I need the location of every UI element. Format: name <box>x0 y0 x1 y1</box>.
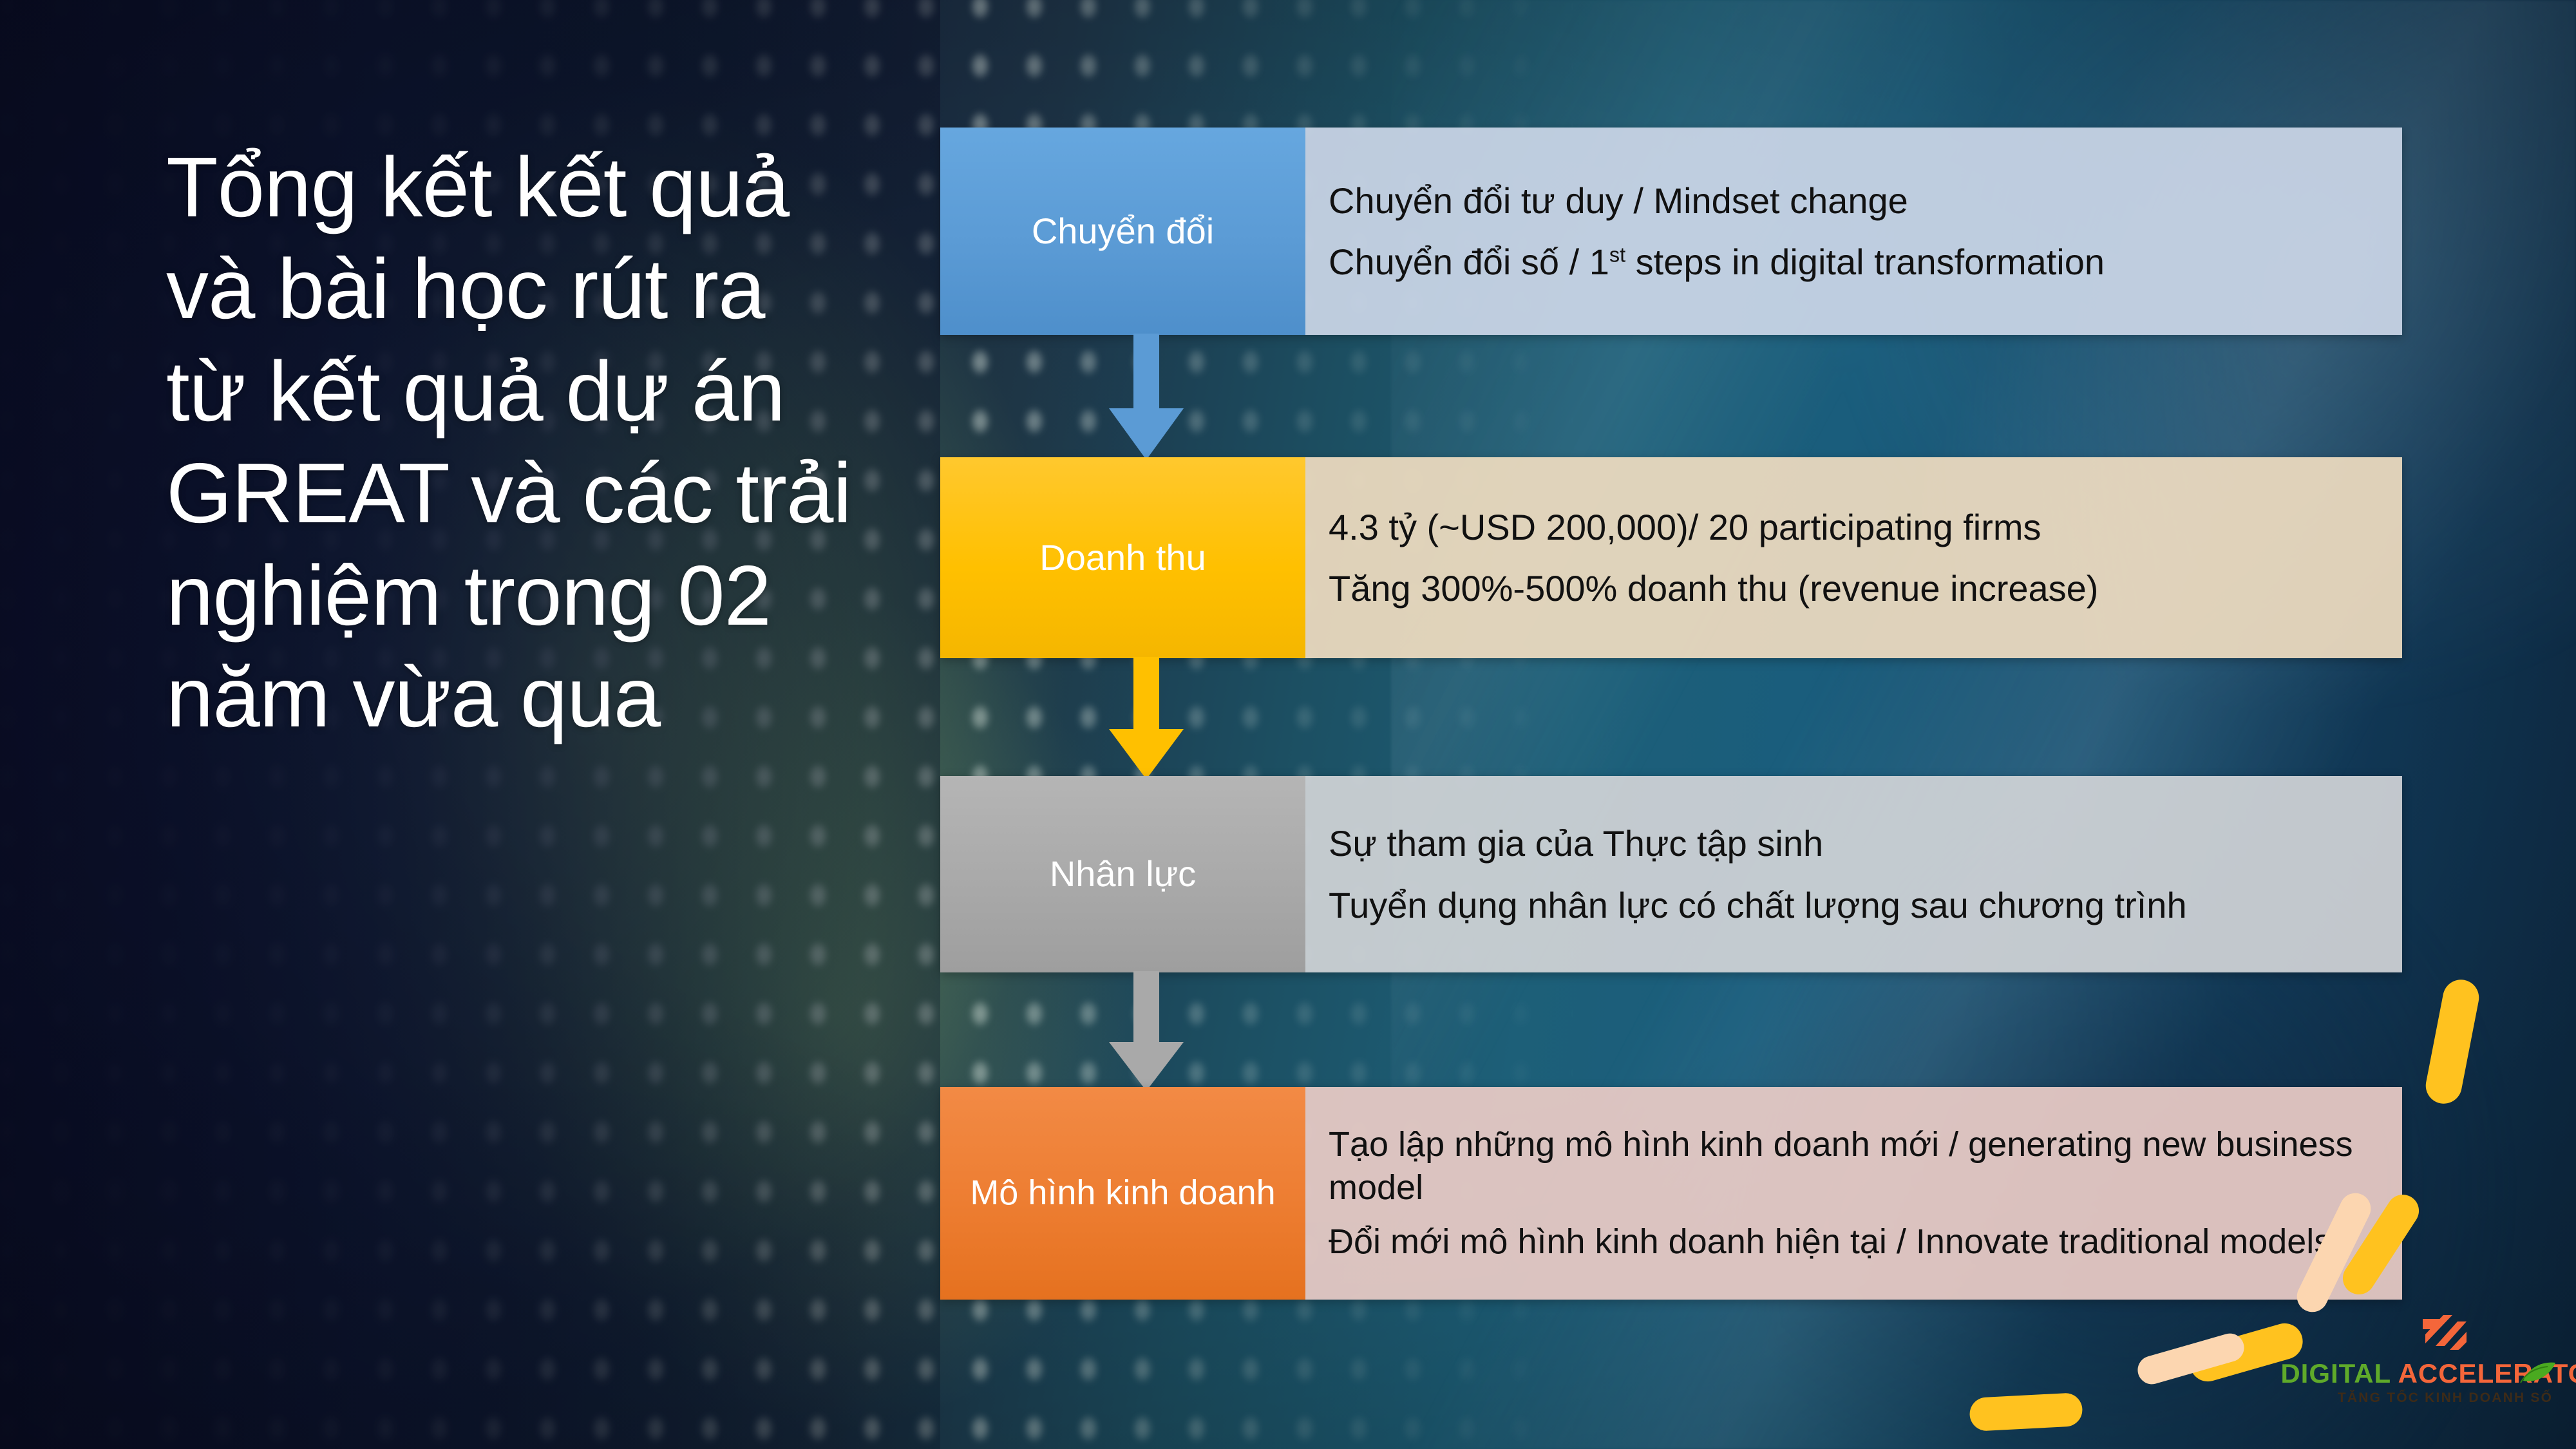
flow-row-mo-hinh-kinh-doanh: Mô hình kinh doanh Tạo lập những mô hình… <box>940 1087 2402 1300</box>
arrow-shaft <box>1133 971 1159 1042</box>
hexagon-logo-icon <box>2421 1306 2469 1358</box>
slide-canvas: Tổng kết kết quả và bài học rút ra từ kế… <box>0 0 2576 1449</box>
flow-row-label-mo-hinh-kinh-doanh: Mô hình kinh doanh <box>940 1087 1305 1300</box>
flow-row-nhan-luc: Nhân lực Sự tham gia của Thực tập sinh T… <box>940 776 2402 972</box>
arrow-head <box>1109 1042 1184 1091</box>
logo-tagline: TĂNG TỐC KINH DOANH SỐ <box>2338 1390 2553 1406</box>
flow-row-label-nhan-luc: Nhân lực <box>940 776 1305 972</box>
arrow-row1-to-row2 <box>1109 334 1184 460</box>
flow-row-body-chuyen-doi: Chuyển đổi tư duy / Mindset change Chuyể… <box>1305 128 2402 335</box>
slide-title: Tổng kết kết quả và bài học rút ra từ kế… <box>166 137 862 748</box>
flow-row-body-doanh-thu: 4.3 tỷ (~USD 200,000)/ 20 participating … <box>1305 457 2402 658</box>
line-2-prefix: Chuyển đổi số / 1 <box>1329 241 1609 282</box>
flow-row-1-line-2: Chuyển đổi số / 1st steps in digital tra… <box>1329 240 2380 284</box>
flow-row-chuyen-doi: Chuyển đổi Chuyển đổi tư duy / Mindset c… <box>940 128 2402 335</box>
flow-row-4-line-1: Tạo lập những mô hình kinh doanh mới / g… <box>1329 1123 2380 1209</box>
flow-row-3-line-1: Sự tham gia của Thực tập sinh <box>1329 821 2380 866</box>
ordinal-superscript: st <box>1609 243 1625 266</box>
arrow-row3-to-row4 <box>1109 971 1184 1090</box>
confetti-bar-yellow-4 <box>1969 1392 2083 1432</box>
flow-row-2-line-1: 4.3 tỷ (~USD 200,000)/ 20 participating … <box>1329 505 2380 549</box>
arrow-head <box>1109 729 1184 779</box>
flow-row-doanh-thu: Doanh thu 4.3 tỷ (~USD 200,000)/ 20 part… <box>940 457 2402 658</box>
flow-row-2-line-2: Tăng 300%-500% doanh thu (revenue increa… <box>1329 566 2380 611</box>
flow-row-body-nhan-luc: Sự tham gia của Thực tập sinh Tuyển dụng… <box>1305 776 2402 972</box>
arrow-row2-to-row3 <box>1109 657 1184 778</box>
logo-word-digital: DIGITAL <box>2280 1358 2391 1388</box>
arrow-shaft <box>1133 334 1159 408</box>
line-2-suffix: steps in digital transformation <box>1625 241 2105 282</box>
flow-row-4-line-2: Đổi mới mô hình kinh doanh hiện tại / In… <box>1329 1220 2380 1264</box>
flow-row-1-line-1: Chuyển đổi tư duy / Mindset change <box>1329 178 2380 223</box>
flow-row-label-doanh-thu: Doanh thu <box>940 457 1305 658</box>
arrow-shaft <box>1133 657 1159 729</box>
arrow-head <box>1109 408 1184 460</box>
flow-row-body-mo-hinh-kinh-doanh: Tạo lập những mô hình kinh doanh mới / g… <box>1305 1087 2402 1300</box>
flow-row-3-line-2: Tuyển dụng nhân lực có chất lượng sau ch… <box>1329 883 2380 927</box>
digital-accelerator-logo: DIGITAL ACCELERATOR TĂNG TỐC KINH DOANH … <box>2333 1306 2558 1406</box>
leaf-icon <box>2519 1361 2557 1383</box>
flow-row-label-chuyen-doi: Chuyển đổi <box>940 128 1305 335</box>
